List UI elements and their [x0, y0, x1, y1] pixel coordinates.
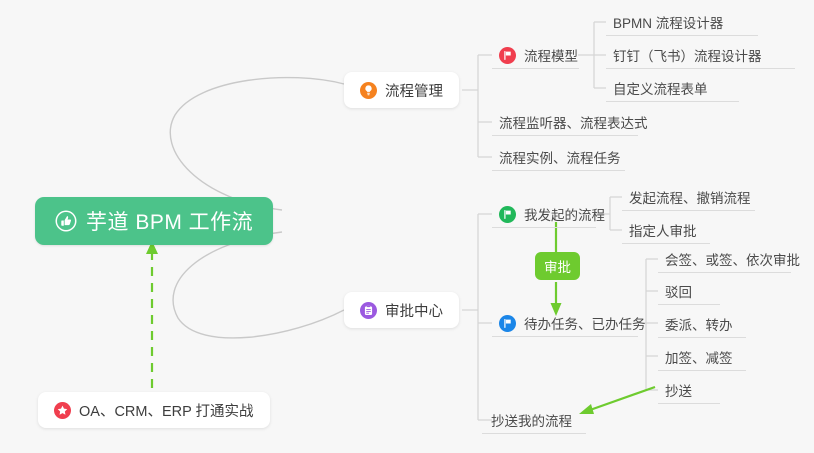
leaf-underline [658, 370, 746, 371]
leaf-underline [492, 135, 638, 136]
node-dingtalk-feishu-designer[interactable]: 钉钉（飞书）流程设计器 [606, 42, 770, 68]
node-label: 我发起的流程 [516, 204, 605, 224]
leaf-underline [622, 210, 755, 211]
leaf-underline [492, 170, 625, 171]
node-process-listener-expression[interactable]: 流程监听器、流程表达式 [492, 109, 656, 135]
footer-node-label: OA、CRM、ERP 打通实战 [71, 400, 254, 421]
flag-icon [499, 47, 516, 64]
node-reject[interactable]: 驳回 [658, 278, 700, 304]
mindmap-canvas: 芋道 BPM 工作流 流程管理 流程模型 BPMN 流程设计器 钉钉（飞书）流程 [0, 0, 814, 453]
flag-icon [499, 206, 516, 223]
node-process-model[interactable]: 流程模型 [492, 42, 586, 68]
node-label: 加签、减签 [665, 347, 733, 367]
node-label: 流程模型 [516, 45, 578, 65]
lightbulb-icon [360, 82, 377, 99]
leaf-underline [606, 101, 739, 102]
node-label: 钉钉（飞书）流程设计器 [613, 45, 762, 65]
root-node[interactable]: 芋道 BPM 工作流 [35, 197, 273, 245]
star-icon [54, 402, 71, 419]
branch-node-approval-center[interactable]: 审批中心 [344, 292, 459, 328]
approval-badge-label: 审批 [544, 256, 571, 276]
node-bpmn-designer[interactable]: BPMN 流程设计器 [606, 9, 731, 35]
footer-node-integration[interactable]: OA、CRM、ERP 打通实战 [38, 392, 270, 428]
branch-node-label: 审批中心 [377, 300, 443, 321]
leaf-underline [492, 336, 638, 337]
node-label: 自定义流程表单 [613, 78, 708, 98]
clipboard-icon [360, 302, 377, 319]
root-node-label: 芋道 BPM 工作流 [77, 206, 253, 236]
leaf-underline [658, 304, 720, 305]
branch-node-label: 流程管理 [377, 80, 443, 101]
node-label: 驳回 [665, 281, 692, 301]
leaf-underline [606, 35, 758, 36]
leaf-underline [606, 68, 795, 69]
leaf-underline [658, 403, 720, 404]
thumbs-up-icon [55, 210, 77, 232]
leaf-underline [658, 337, 746, 338]
leaf-underline [658, 272, 791, 273]
node-label: 发起流程、撤销流程 [629, 187, 751, 207]
leaf-underline [492, 227, 596, 228]
flag-icon [499, 315, 516, 332]
node-cc-to-me-process[interactable]: 抄送我的流程 [484, 407, 580, 433]
integration-dashed-arrow [146, 241, 158, 388]
node-label: 抄送 [665, 380, 692, 400]
leaf-underline [482, 433, 586, 434]
node-countersign-orsign-sequential[interactable]: 会签、或签、依次审批 [658, 246, 808, 272]
node-custom-process-form[interactable]: 自定义流程表单 [606, 75, 716, 101]
node-add-remove-sign[interactable]: 加签、减签 [658, 344, 741, 370]
node-label: 流程监听器、流程表达式 [499, 112, 648, 132]
node-label: 指定人审批 [629, 220, 697, 240]
node-label: 抄送我的流程 [491, 410, 572, 430]
node-start-cancel-process[interactable]: 发起流程、撤销流程 [622, 184, 759, 210]
node-label: BPMN 流程设计器 [613, 12, 723, 32]
node-delegate-transfer[interactable]: 委派、转办 [658, 311, 741, 337]
cc-flow-arrow [579, 387, 655, 414]
node-label: 待办任务、已办任务 [516, 313, 646, 333]
leaf-underline [492, 68, 579, 69]
node-carbon-copy[interactable]: 抄送 [658, 377, 700, 403]
node-label: 会签、或签、依次审批 [665, 249, 800, 269]
node-designated-approver[interactable]: 指定人审批 [622, 217, 705, 243]
node-label: 流程实例、流程任务 [499, 147, 621, 167]
node-process-instance-task[interactable]: 流程实例、流程任务 [492, 144, 629, 170]
node-my-initiated-process[interactable]: 我发起的流程 [492, 201, 613, 227]
approval-badge[interactable]: 审批 [535, 252, 580, 280]
node-label: 委派、转办 [665, 314, 733, 334]
branch-node-process-management[interactable]: 流程管理 [344, 72, 459, 108]
leaf-underline [622, 243, 710, 244]
node-todo-done-tasks[interactable]: 待办任务、已办任务 [492, 310, 654, 336]
